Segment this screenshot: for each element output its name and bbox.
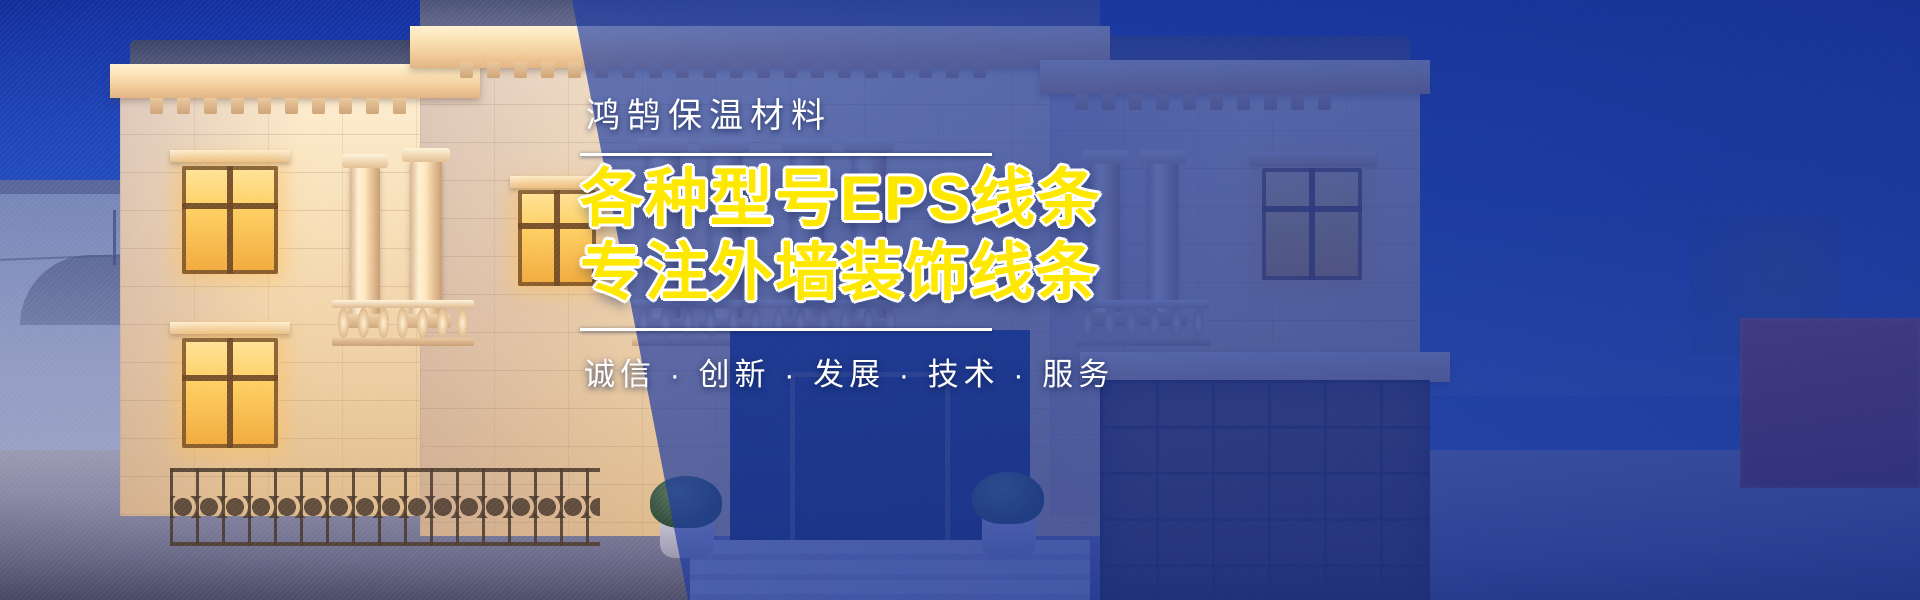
banner-hero: 鸿鹄保温材料 各种型号EPS线条 专注外墙装饰线条 诚信 · 创新 · 发展 ·… — [0, 0, 1920, 600]
dentil-row-left — [150, 98, 406, 114]
cornice-right — [1040, 60, 1430, 94]
headline-line-2: 专注外墙装饰线条 — [578, 236, 1578, 310]
iron-fence — [170, 468, 600, 546]
banner-copy: 鸿鹄保温材料 各种型号EPS线条 专注外墙装饰线条 诚信 · 创新 · 发展 ·… — [578, 96, 1578, 394]
lit-window — [182, 166, 278, 274]
window-hood — [170, 322, 290, 334]
red-container — [1740, 318, 1920, 488]
window-hood — [170, 150, 290, 162]
shrub — [972, 472, 1044, 524]
divider-top — [580, 153, 992, 156]
headline-line-1: 各种型号EPS线条 — [578, 162, 1578, 236]
garage-door — [1100, 380, 1430, 600]
dentil-row-center — [460, 62, 986, 78]
divider-bottom — [580, 328, 992, 331]
tagline: 诚信 · 创新 · 发展 · 技术 · 服务 — [578, 349, 1578, 394]
cornice-left — [110, 64, 480, 98]
lit-window — [182, 338, 278, 448]
column — [350, 166, 380, 316]
entrance-door — [790, 372, 950, 562]
balustrade — [338, 300, 468, 346]
fence-ornament — [170, 496, 600, 518]
shrub — [650, 476, 722, 528]
brand-name: 鸿鹄保温材料 — [578, 96, 1578, 137]
column — [410, 160, 442, 316]
